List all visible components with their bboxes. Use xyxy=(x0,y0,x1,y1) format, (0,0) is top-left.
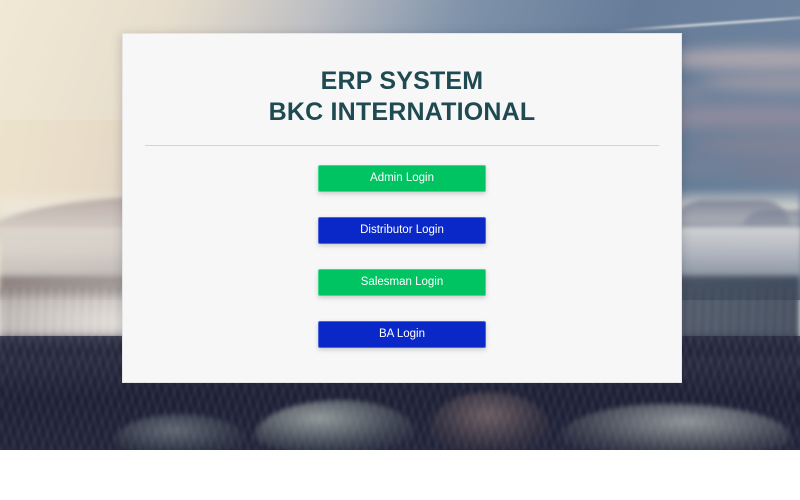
title-divider xyxy=(145,145,659,146)
bottom-white-strip xyxy=(0,450,800,500)
page-title-line-1: ERP SYSTEM xyxy=(123,34,681,96)
admin-login-button[interactable]: Admin Login xyxy=(318,165,486,192)
login-screen: ERP SYSTEM BKC INTERNATIONAL Admin Login… xyxy=(0,0,800,500)
login-card: ERP SYSTEM BKC INTERNATIONAL Admin Login… xyxy=(122,33,682,383)
page-title-line-2: BKC INTERNATIONAL xyxy=(123,96,681,127)
login-button-stack: Admin Login Distributor Login Salesman L… xyxy=(123,165,681,348)
ba-login-button[interactable]: BA Login xyxy=(318,321,486,348)
salesman-login-button[interactable]: Salesman Login xyxy=(318,269,486,296)
distributor-login-button[interactable]: Distributor Login xyxy=(318,217,486,244)
